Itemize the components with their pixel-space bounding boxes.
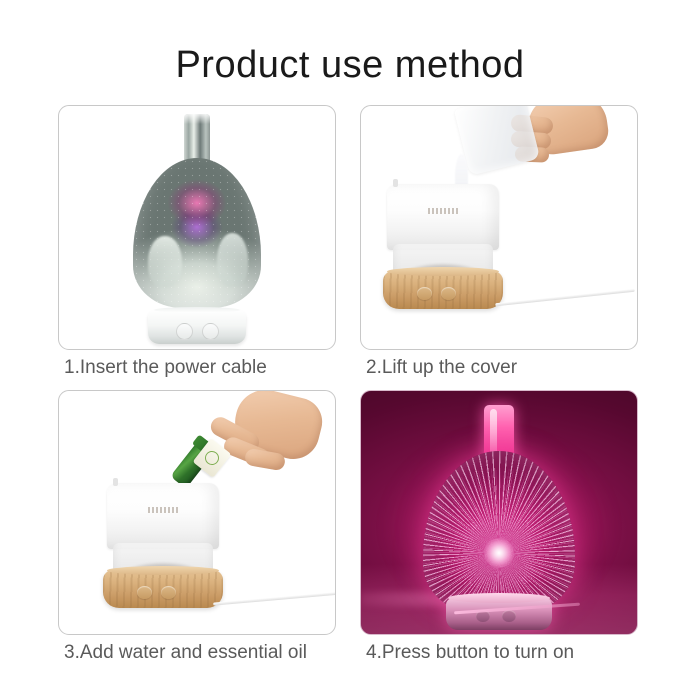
step-2-image-panel (360, 105, 638, 350)
brand-logo-mark (148, 507, 178, 513)
product-use-method-infographic: Product use method 1.Insert (0, 0, 700, 700)
diffuser-inner-cover (387, 184, 499, 250)
step-card-4: 4.Press button to turn on (360, 390, 638, 635)
wood-base (383, 271, 503, 309)
diffuser-glass-body (133, 158, 261, 308)
diffuser-open-unit-step3 (103, 483, 223, 608)
power-button-icon (176, 323, 193, 340)
diffuser-inner-cover (107, 483, 219, 549)
cover-nub (393, 179, 398, 187)
diffuser-glass-body-lit (423, 451, 575, 615)
glass-highlight-right (217, 233, 248, 287)
glass-speckle-texture (133, 158, 261, 308)
step-card-2: 2.Lift up the cover (360, 105, 638, 350)
step-3-caption: 3.Add water and essential oil (64, 642, 364, 664)
power-button-icon (137, 586, 152, 599)
label-leaf-icon (202, 448, 222, 468)
light-core (484, 538, 514, 568)
diffuser-illuminated-illustration (414, 405, 584, 630)
step-2-caption: 2.Lift up the cover (366, 357, 666, 379)
diffuser-unlit-illustration (122, 114, 272, 344)
power-cord (495, 289, 635, 307)
brand-logo-mark (428, 208, 458, 214)
step-card-1: 1.Insert the power cable (58, 105, 336, 350)
step-1-image-panel (58, 105, 336, 350)
diffuser-open-unit-step2 (383, 184, 503, 309)
glass-highlight-left (148, 236, 181, 287)
page-title: Product use method (0, 46, 700, 84)
light-button-icon (161, 586, 176, 599)
light-button-icon (202, 323, 219, 340)
step-card-3: 3.Add water and essential oil (58, 390, 336, 635)
light-button-icon (502, 610, 516, 622)
diffuser-white-base (148, 310, 246, 344)
light-button-icon (441, 287, 456, 300)
wood-base (103, 570, 223, 608)
step-3-image-panel (58, 390, 336, 635)
step-4-caption: 4.Press button to turn on (366, 642, 666, 664)
step-1-caption: 1.Insert the power cable (64, 357, 364, 379)
diffuser-base-lit (446, 598, 552, 630)
cover-nub (113, 478, 118, 486)
step-4-image-panel (360, 390, 638, 635)
power-button-icon (417, 287, 432, 300)
power-cord (213, 591, 336, 605)
